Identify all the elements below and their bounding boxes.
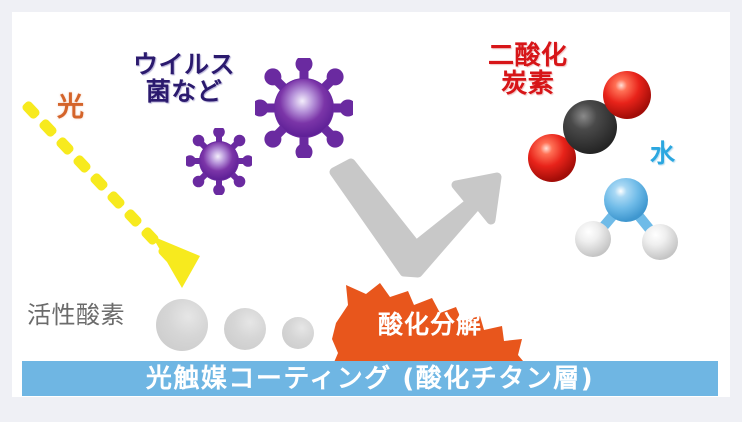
label-virus-bacteria: ウイルス 菌など [133, 51, 235, 105]
photocatalyst-coating-label: 光触媒コーティング (酸化チタン層) [22, 364, 718, 394]
oxidative-decomposition-label: 酸化分解 [332, 305, 528, 341]
label-reactive-oxygen: 活性酸素 [27, 303, 125, 329]
virus-small-icon [186, 128, 252, 195]
water-molecule [568, 172, 684, 268]
diagram-canvas: 光 ウイルス 菌など [0, 0, 742, 422]
label-light: 光 [57, 93, 85, 122]
reactive-oxygen-circle [282, 317, 314, 349]
reactive-oxygen-circle [156, 299, 208, 351]
reactive-oxygen-circle [224, 308, 266, 350]
virus-large-icon [255, 58, 353, 158]
label-water: 水 [650, 140, 676, 167]
